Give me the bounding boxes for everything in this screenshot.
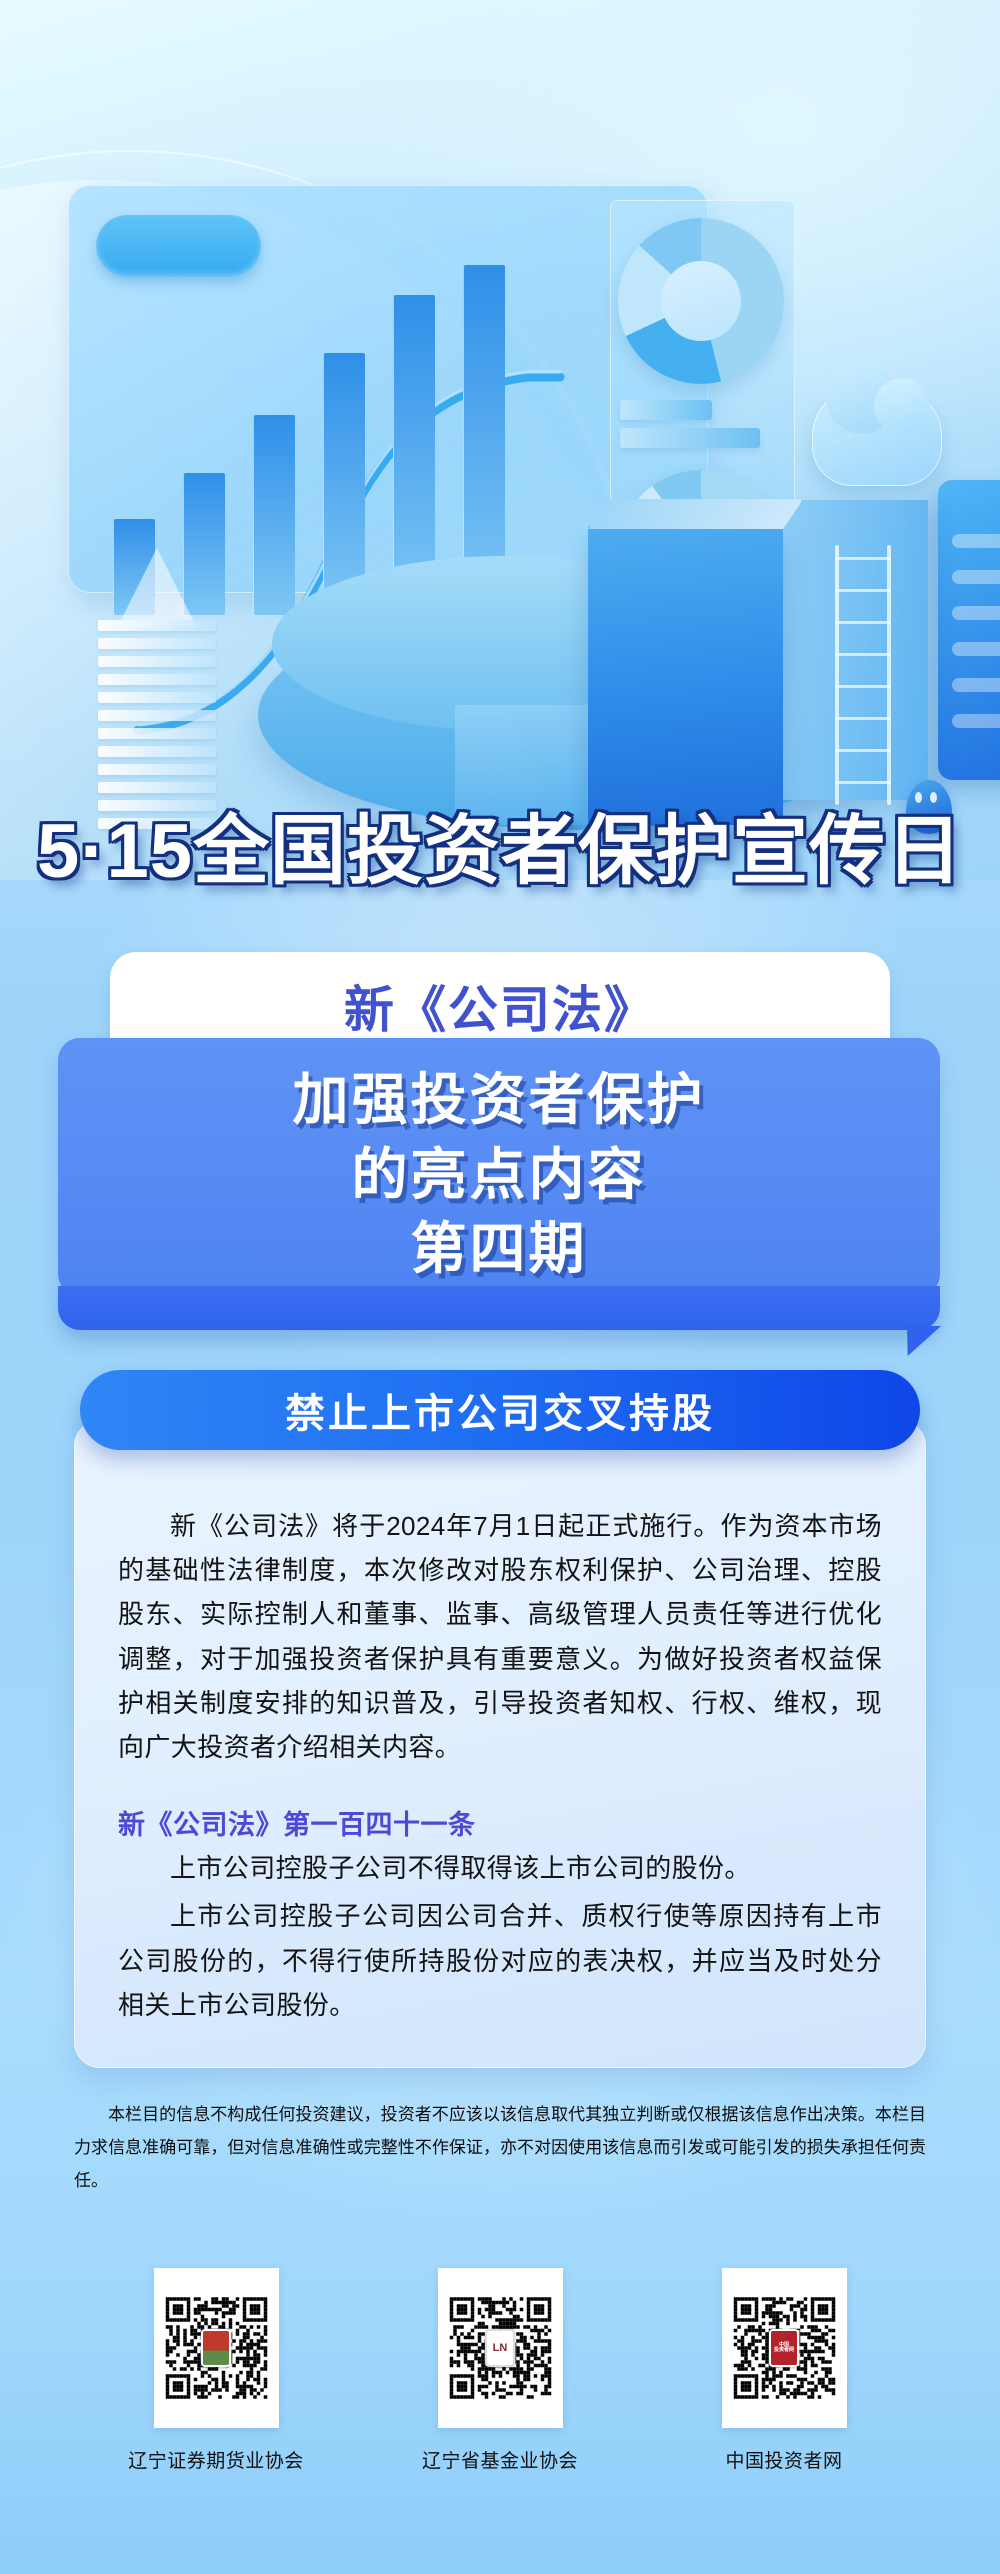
qr-code-box[interactable]	[154, 2268, 279, 2428]
podium-box	[588, 525, 783, 825]
qr-logo: LN	[485, 2329, 515, 2367]
donut-top-legend-bar-1	[620, 400, 712, 420]
headline-line-3: 第四期	[411, 1213, 588, 1286]
glass-tower-icon	[98, 620, 216, 835]
page-title: 5·15全国投资者保护宣传日	[0, 812, 1000, 892]
panel-pill-icon	[96, 215, 261, 277]
qr-item[interactable]: LN 辽宁省基金业协会	[400, 2268, 600, 2473]
law-article-heading: 新《公司法》第一百四十一条	[118, 1803, 882, 1842]
headline-bubble-text: 加强投资者保护 的亮点内容 第四期	[58, 1052, 940, 1298]
headline-line-1: 加强投资者保护	[293, 1064, 706, 1137]
section-header-text: 禁止上市公司交叉持股	[285, 1381, 715, 1439]
qr-code-row: 辽宁证券期货业协会 LN 辽宁省基金业协会 中国投资者网 中国投资者网	[74, 2268, 926, 2473]
disclaimer-text: 本栏目的信息不构成任何投资建议，投资者不应该以该信息取代其独立判断或仅根据该信息…	[74, 2098, 926, 2197]
ladder-icon	[835, 545, 891, 805]
cloud-icon	[812, 388, 942, 486]
podium-step	[455, 705, 605, 825]
qr-code-box[interactable]: LN	[438, 2268, 563, 2428]
headline-line-2: 的亮点内容	[352, 1139, 647, 1212]
hero-illustration	[0, 0, 1000, 880]
qr-code-box[interactable]: 中国投资者网	[722, 2268, 847, 2428]
blue-document-card	[938, 480, 1000, 780]
qr-label: 辽宁证券期货业协会	[128, 2446, 304, 2473]
qr-logo	[201, 2329, 231, 2367]
bar-3	[253, 415, 295, 615]
qr-item[interactable]: 中国投资者网 中国投资者网	[684, 2268, 884, 2473]
donut-top-legend-bar-2	[620, 428, 760, 448]
donut-chart-top	[618, 218, 784, 384]
qr-logo: 中国投资者网	[769, 2329, 799, 2367]
poster-root: 5·15全国投资者保护宣传日 新《公司法》 加强投资者保护 的亮点内容 第四期 …	[0, 0, 1000, 2574]
intro-paragraph: 新《公司法》将于2024年7月1日起正式施行。作为资本市场的基础性法律制度，本次…	[118, 1504, 882, 1769]
subtitle-banner-text: 新《公司法》	[344, 970, 656, 1042]
law-paragraph-2: 上市公司控股子公司因公司合并、质权行使等原因持有上市公司股份的，不得行使所持股份…	[118, 1894, 882, 2027]
content-card: 新《公司法》将于2024年7月1日起正式施行。作为资本市场的基础性法律制度，本次…	[74, 1420, 926, 2068]
law-paragraph-1: 上市公司控股子公司不得取得该上市公司的股份。	[118, 1846, 882, 1890]
qr-item[interactable]: 辽宁证券期货业协会	[116, 2268, 316, 2473]
qr-label: 辽宁省基金业协会	[422, 2446, 578, 2473]
qr-label: 中国投资者网	[725, 2446, 842, 2473]
section-header-pill: 禁止上市公司交叉持股	[80, 1370, 920, 1450]
